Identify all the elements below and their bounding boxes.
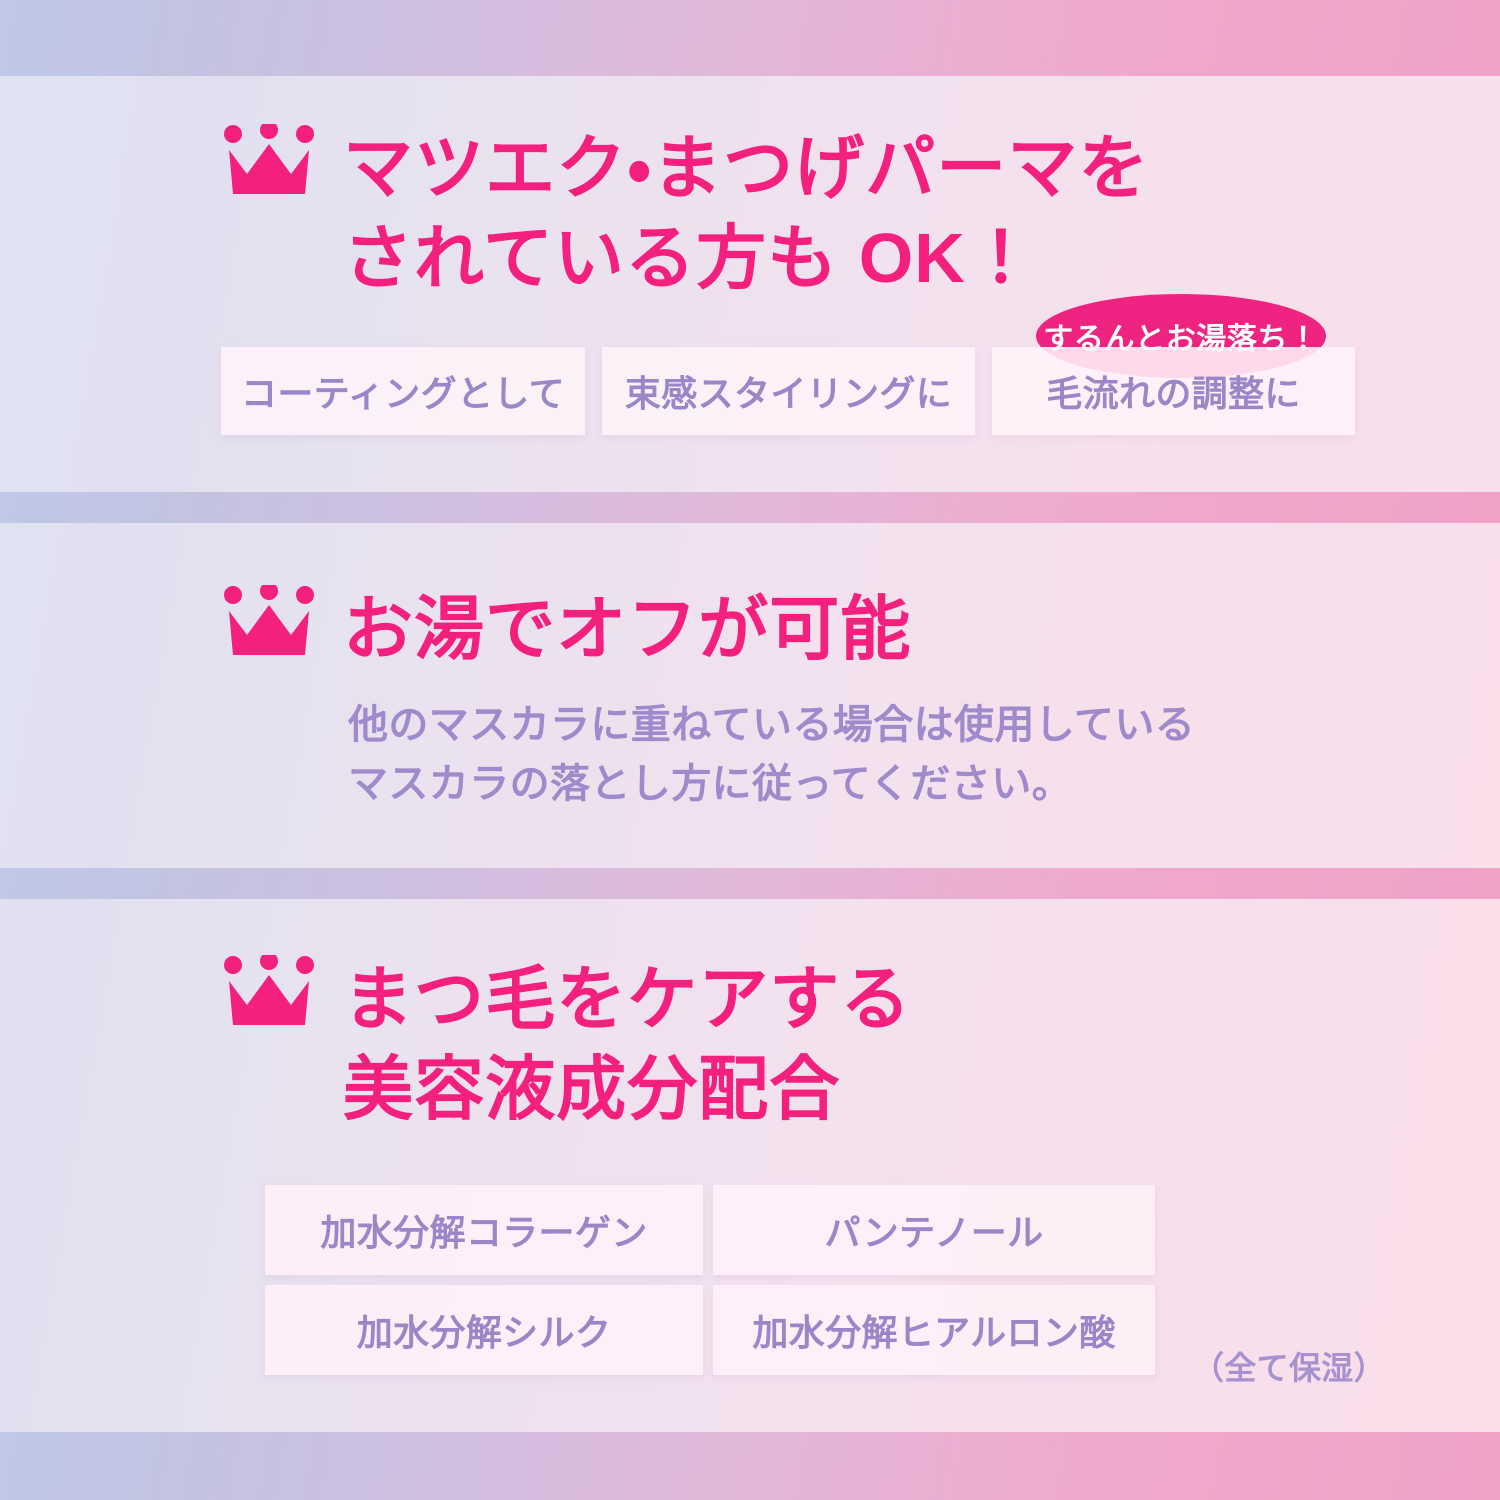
section-2-heading-row: お湯でオフが可能: [221, 585, 911, 675]
ingredient-footnote: （全て保湿）: [1192, 1343, 1386, 1389]
infographic-page: マツエク・まつげパーマを されている方も OK！ するんとお湯落ち！ コーティン…: [0, 0, 1500, 1500]
crown-icon: [221, 124, 317, 198]
section-divider-2: [0, 868, 1500, 899]
usage-chip: コーティングとして: [221, 347, 585, 435]
top-gradient-band: [0, 0, 1500, 76]
section-divider-1: [0, 492, 1500, 523]
crown-icon: [221, 585, 317, 659]
section-1-heading: マツエク・まつげパーマを されている方も OK！: [343, 124, 1149, 303]
crown-icon: [221, 955, 317, 1029]
feature-section-lash-extensions: マツエク・まつげパーマを されている方も OK！ するんとお湯落ち！ コーティン…: [0, 76, 1500, 492]
section-3-heading-row: まつ毛をケアする 美容液成分配合: [221, 955, 911, 1134]
ingredient-cell: 加水分解コラーゲン: [265, 1185, 703, 1275]
usage-chip-row: コーティングとして 束感スタイリングに 毛流れの調整に: [221, 347, 1355, 435]
ingredient-cell: 加水分解ヒアルロン酸: [713, 1285, 1155, 1375]
feature-section-lash-care-ingredients: まつ毛をケアする 美容液成分配合 加水分解コラーゲン パンテノール 加水分解シル…: [0, 899, 1500, 1432]
bottom-gradient-band: [0, 1432, 1500, 1500]
feature-section-hot-water-off: お湯でオフが可能 他のマスカラに重ねている場合は使用している マスカラの落とし方…: [0, 523, 1500, 868]
section-2-body-text: 他のマスカラに重ねている場合は使用している マスカラの落とし方に従ってください。: [348, 696, 1195, 814]
section-3-heading: まつ毛をケアする 美容液成分配合: [343, 955, 911, 1134]
usage-chip: 束感スタイリングに: [602, 347, 975, 435]
ingredient-grid: 加水分解コラーゲン パンテノール 加水分解シルク 加水分解ヒアルロン酸: [265, 1185, 1155, 1375]
section-1-heading-row: マツエク・まつげパーマを されている方も OK！: [221, 124, 1149, 303]
usage-chip: 毛流れの調整に: [992, 347, 1355, 435]
ingredient-cell: パンテノール: [713, 1185, 1155, 1275]
ingredient-cell: 加水分解シルク: [265, 1285, 703, 1375]
section-2-heading: お湯でオフが可能: [343, 585, 911, 675]
